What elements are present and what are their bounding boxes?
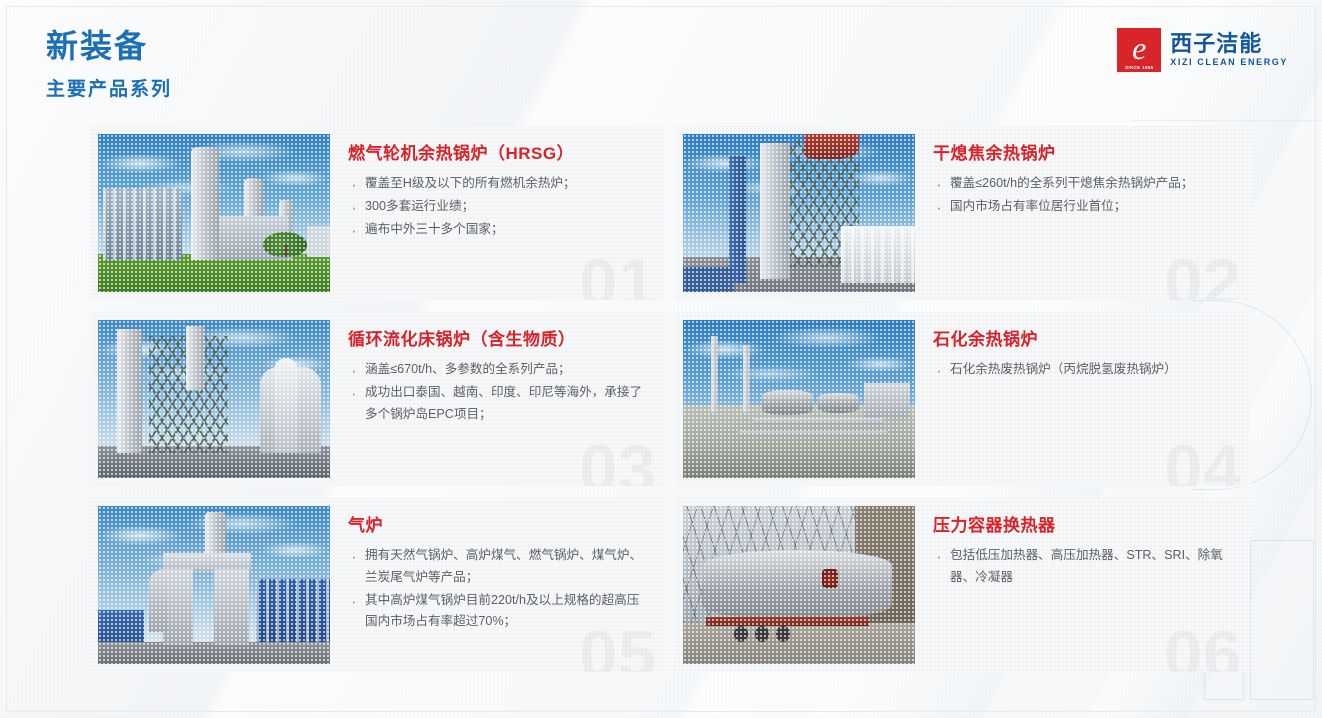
card-title: 压力容器换热器 <box>933 516 1228 536</box>
logo-name-en: XIZI CLEAN ENERGY <box>1170 58 1288 67</box>
brand-logo: e SINCE 1955 西子洁能 XIZI CLEAN ENERGY <box>1117 28 1288 72</box>
background-rule-upper <box>1132 120 1322 121</box>
list-item: 石化余热废热锅炉（丙烷脱氢废热锅炉） <box>933 359 1228 381</box>
card-content: 循环流化床锅炉（含生物质） 涵盖≤670t/h、多参数的全系列产品； 成功出口泰… <box>330 312 665 486</box>
product-card[interactable]: 燃气轮机余热锅炉（HRSG） 覆盖至H级及以下的所有燃机余热炉； 300多套运行… <box>90 126 665 300</box>
product-card[interactable]: 气炉 拥有天然气锅炉、高炉煤气、燃气锅炉、煤气炉、兰炭尾气炉等产品； 其中高炉煤… <box>90 498 665 672</box>
product-card[interactable]: 压力容器换热器 包括低压加热器、高压加热器、STR、SRI、除氧器、冷凝器 06 <box>675 498 1250 672</box>
gas-fired-boiler-photo <box>98 506 330 664</box>
list-item: 300多套运行业绩； <box>348 196 643 218</box>
card-bullet-list: 拥有天然气锅炉、高炉煤气、燃气锅炉、煤气炉、兰炭尾气炉等产品； 其中高炉煤气锅炉… <box>348 545 643 633</box>
product-card[interactable]: 循环流化床锅炉（含生物质） 涵盖≤670t/h、多参数的全系列产品； 成功出口泰… <box>90 312 665 486</box>
card-content: 气炉 拥有天然气锅炉、高炉煤气、燃气锅炉、煤气炉、兰炭尾气炉等产品； 其中高炉煤… <box>330 498 665 672</box>
list-item: 其中高炉煤气锅炉目前220t/h及以上规格的超高压国内市场占有率超过70%； <box>348 590 643 633</box>
logo-wordmark: 西子洁能 XIZI CLEAN ENERGY <box>1170 33 1288 67</box>
list-item: 涵盖≤670t/h、多参数的全系列产品； <box>348 359 643 381</box>
product-card[interactable]: 干熄焦余热锅炉 覆盖≤260t/h的全系列干熄焦余热锅炉产品； 国内市场占有率位… <box>675 126 1250 300</box>
coke-dry-quenching-boiler-photo <box>683 134 915 292</box>
page-subtitle: 主要产品系列 <box>46 74 172 101</box>
product-card[interactable]: 石化余热锅炉 石化余热废热锅炉（丙烷脱氢废热锅炉） 04 <box>675 312 1250 486</box>
card-content: 压力容器换热器 包括低压加热器、高压加热器、STR、SRI、除氧器、冷凝器 <box>915 498 1250 672</box>
product-card-grid: 燃气轮机余热锅炉（HRSG） 覆盖至H级及以下的所有燃机余热炉； 300多套运行… <box>90 126 1250 672</box>
list-item: 覆盖至H级及以下的所有燃机余热炉； <box>348 173 643 195</box>
page-title: 新装备 <box>46 26 172 66</box>
list-item: 包括低压加热器、高压加热器、STR、SRI、除氧器、冷凝器 <box>933 545 1228 588</box>
background-shape-bar-left <box>1250 540 1314 700</box>
logo-e-glyph: e <box>1132 32 1146 64</box>
petrochemical-waste-heat-boiler-photo <box>683 320 915 478</box>
logo-mark-icon: e SINCE 1955 <box>1117 28 1161 72</box>
card-title: 循环流化床锅炉（含生物质） <box>348 330 643 350</box>
card-content: 石化余热锅炉 石化余热废热锅炉（丙烷脱氢废热锅炉） <box>915 312 1250 486</box>
card-title: 石化余热锅炉 <box>933 330 1228 350</box>
logo-name-cn: 西子洁能 <box>1170 33 1288 55</box>
page-header: 新装备 主要产品系列 <box>46 26 172 101</box>
list-item: 成功出口泰国、越南、印度、印尼等海外，承接了多个锅炉岛EPC项目； <box>348 382 643 425</box>
card-bullet-list: 覆盖至H级及以下的所有燃机余热炉； 300多套运行业绩； 遍布中外三十多个国家； <box>348 173 643 240</box>
card-content: 燃气轮机余热锅炉（HRSG） 覆盖至H级及以下的所有燃机余热炉； 300多套运行… <box>330 126 665 300</box>
pressure-vessel-heat-exchanger-photo <box>683 506 915 664</box>
gas-turbine-hrsg-plant-photo <box>98 134 330 292</box>
card-bullet-list: 涵盖≤670t/h、多参数的全系列产品； 成功出口泰国、越南、印度、印尼等海外，… <box>348 359 643 425</box>
circulating-fluidized-bed-boiler-photo <box>98 320 330 478</box>
card-bullet-list: 覆盖≤260t/h的全系列干熄焦余热锅炉产品； 国内市场占有率位居行业首位； <box>933 173 1228 217</box>
card-bullet-list: 石化余热废热锅炉（丙烷脱氢废热锅炉） <box>933 359 1228 381</box>
card-title: 气炉 <box>348 516 643 536</box>
card-content: 干熄焦余热锅炉 覆盖≤260t/h的全系列干熄焦余热锅炉产品； 国内市场占有率位… <box>915 126 1250 300</box>
list-item: 国内市场占有率位居行业首位； <box>933 196 1228 218</box>
list-item: 遍布中外三十多个国家； <box>348 219 643 241</box>
list-item: 拥有天然气锅炉、高炉煤气、燃气锅炉、煤气炉、兰炭尾气炉等产品； <box>348 545 643 588</box>
list-item: 覆盖≤260t/h的全系列干熄焦余热锅炉产品； <box>933 173 1228 195</box>
card-title: 干熄焦余热锅炉 <box>933 144 1228 164</box>
slide-canvas: 新装备 主要产品系列 e SINCE 1955 西子洁能 XIZI CLEAN … <box>0 0 1322 718</box>
logo-since-text: SINCE 1955 <box>1117 65 1161 70</box>
card-bullet-list: 包括低压加热器、高压加热器、STR、SRI、除氧器、冷凝器 <box>933 545 1228 588</box>
card-title: 燃气轮机余热锅炉（HRSG） <box>348 144 643 164</box>
